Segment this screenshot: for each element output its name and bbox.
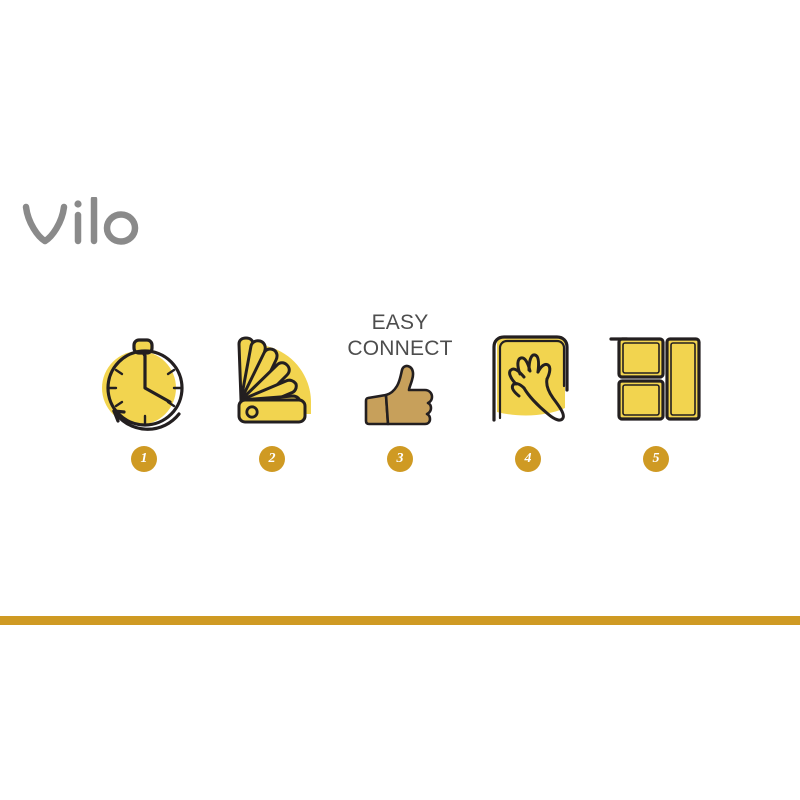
stopwatch-icon	[84, 322, 204, 432]
feature-item-4[interactable]: 4	[464, 300, 592, 500]
step-badge: 3	[387, 446, 413, 472]
step-badge: 5	[643, 446, 669, 472]
color-swatch-fan-icon	[212, 322, 332, 432]
feature-step-row: 1	[80, 300, 720, 500]
step-badge: 4	[515, 446, 541, 472]
hand-wipe-clean-icon	[468, 322, 588, 432]
feature-caption-easy-connect: EASY CONNECT	[336, 310, 464, 362]
feature-item-5[interactable]: 5	[592, 300, 720, 500]
footer-gold-bar	[0, 616, 800, 625]
feature-item-3[interactable]: EASY CONNECT 3	[336, 300, 464, 500]
thumbs-up-icon	[340, 356, 460, 432]
feature-item-1[interactable]: 1	[80, 300, 208, 500]
step-badge: 1	[131, 446, 157, 472]
caption-line-1: EASY	[336, 310, 464, 336]
wall-panel-layout-icon	[596, 322, 716, 432]
slide-canvas: 1	[0, 0, 800, 800]
step-badge: 2	[259, 446, 285, 472]
vilo-logo	[22, 197, 222, 249]
caption-line-2: CONNECT	[336, 336, 464, 362]
feature-item-2[interactable]: 2	[208, 300, 336, 500]
